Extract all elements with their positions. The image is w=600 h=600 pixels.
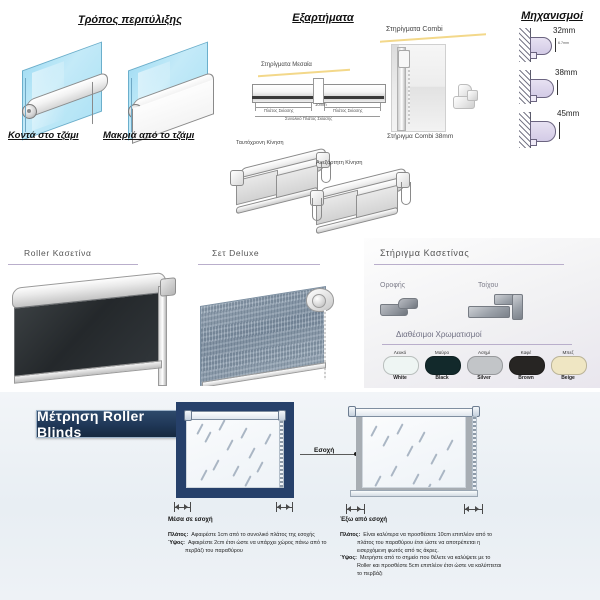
mechanism-size-label: 45mm (557, 109, 579, 118)
roller-bottom-bar (350, 490, 478, 497)
section-mechanisms: Μηχανισμοί 32mm 6.7mm 38mm 45mm (505, 0, 600, 160)
bracket-wall-icon (468, 292, 530, 324)
motion-independent-label: Ανεξάρτητη Κίνηση (316, 160, 362, 166)
side-guide-rail (158, 286, 167, 386)
dim-left-label: Πλάτος Σκίασης (264, 108, 294, 113)
swatch-chip (551, 356, 587, 375)
color-swatch-row: Λευκό White Μαύρο Black Ασημί Silver Καφ… (380, 350, 586, 384)
middle-bracket-label: Στηρίγματα Μεσαία (261, 62, 312, 68)
cassette-endcap (160, 277, 176, 297)
window-glass (362, 416, 466, 488)
note-text: Είναι καλύτερα να προσθέσετε 10cm επιπλέ… (363, 532, 492, 540)
note-key: Πλάτος: (168, 532, 188, 538)
note-key: Ύψος: (340, 555, 357, 561)
swatch-label-en: Black (422, 375, 462, 381)
mechanism-size-label: 32mm (553, 26, 575, 35)
mechanism-foot-icon (530, 95, 537, 102)
mechanism-foot-icon (530, 139, 537, 146)
roller-end-left (230, 170, 244, 186)
swatch-label-en: White (380, 375, 420, 381)
headrail-cap-left (348, 406, 356, 417)
colors-title: Διαθέσιμοι Χρωματισμοί (396, 330, 482, 339)
note-outside-heading: Έξω από εσοχή (340, 516, 590, 523)
swatch-black: Μαύρο Black (422, 350, 462, 355)
note-line: Πλάτος: Είναι καλύτερα να προσθέσετε 10c… (340, 532, 590, 540)
roller-headrail (186, 411, 286, 420)
window-control-chain (279, 420, 284, 488)
glass-edge-line (131, 78, 132, 132)
bracket-tab (467, 90, 478, 101)
deluxe-title: Σετ Deluxe (212, 248, 259, 258)
mechanisms-heading: Μηχανισμοί (507, 10, 597, 22)
window-control-chain (472, 416, 477, 490)
deluxe-control-chain (324, 308, 326, 380)
middle-bracket-diagram: Πλάτος Σκίασης Πλάτος Σκίασης 10mm Συνολ… (252, 78, 384, 120)
note-line: περβάζι του παραθύρου (168, 548, 328, 556)
catalog-page: Τρόπος περιτύλιξης Κοντά στο τζάμι Μακρι… (0, 0, 600, 600)
section-wrapping-method: Τρόπος περιτύλιξης Κοντά στο τζάμι Μακρι… (0, 0, 250, 160)
bracket-type-wall-label: Τοίχου (478, 282, 498, 289)
wrapping-heading: Τρόπος περιτύλιξης (55, 14, 205, 26)
mechanism-item-32mm: 32mm 6.7mm (519, 28, 595, 62)
wrapping-option-far-label: Μακριά από το τζάμι (103, 130, 194, 141)
combi-bracket-photo (391, 44, 446, 132)
mechanism-item-45mm: 45mm (519, 112, 595, 148)
swatch-beige: Μπεζ Beige (548, 350, 588, 355)
section-parts: Εξαρτήματα Στηρίγματα Μεσαία Πλάτος Σκία… (250, 0, 500, 225)
dimension-row-outside (340, 504, 492, 514)
combi-clip-icon (398, 50, 410, 68)
note-outside-recess: Έξω από εσοχή Πλάτος: Είναι καλύτερα να … (340, 516, 590, 579)
swatch-label-en: Beige (548, 375, 588, 381)
swatch-label-en: Brown (506, 375, 546, 381)
dim-tick (380, 103, 381, 111)
dimension-arrow (555, 38, 556, 52)
note-line: Roller και προσθέστε 5cm επιπλέον έτσι ώ… (340, 563, 590, 571)
dim-right-label: Πλάτος Σκίασης (333, 108, 363, 113)
section-deluxe-set: Σετ Deluxe (192, 238, 362, 388)
mechanism-item-38mm: 38mm (519, 70, 595, 104)
note-key: Πλάτος: (340, 532, 360, 538)
glass-edge-line (25, 78, 26, 132)
mechanism-inner-label: 6.7mm (558, 41, 569, 45)
deluxe-photo (196, 266, 358, 386)
parts-heading: Εξαρτήματα (268, 12, 378, 24)
measuring-banner: Μέτρηση Roller Blinds (36, 410, 180, 438)
dim-total-label: Συνολικό Πλάτος Σκίασης (285, 116, 332, 121)
recess-label: Εσοχή (312, 447, 336, 454)
note-text: το περβάζι (357, 571, 382, 579)
swatch-label-en: Silver (464, 375, 504, 381)
dim-tick (311, 103, 312, 111)
combi-caption: Στήριγμα Combi 38mm (387, 133, 453, 140)
dimension-arrow (559, 122, 560, 139)
note-inside-recess: Μέσα σε εσοχή Πλάτος: Αφαιρέστε 1cm από … (168, 516, 328, 555)
bracket-vertical (512, 294, 523, 320)
note-line: πλάτος του παραθύρου έτσι ώστε να αποτρέ… (340, 540, 590, 548)
note-line: Πλάτος: Αφαιρέστε 1cm από το συνολικό πλ… (168, 532, 328, 540)
note-text: Αφαιρέστε 2cm έτσι ώστε να υπάρχει χώρος… (188, 540, 327, 548)
swatch-chip (383, 356, 419, 375)
dim-center-label: 10mm (315, 102, 327, 107)
combi-label: Στηρίγματα Combi (386, 26, 443, 33)
note-inside-heading: Μέσα σε εσοχή (168, 516, 328, 523)
note-text: περβάζι του παραθύρου (185, 548, 243, 556)
section-cassette-bracket: Στήριγμα Κασετίνας Οροφής Τοίχου Διαθέσι… (364, 238, 600, 388)
label-underline (380, 33, 486, 42)
bracket-ceiling-icon (380, 296, 424, 322)
window-outside-recess-diagram (348, 398, 480, 502)
fabric-drop-line (92, 82, 93, 124)
dim-tick (255, 103, 256, 111)
bracket-title: Στήριγμα Κασετίνας (380, 248, 469, 258)
note-text: πλάτος του παραθύρου έτσι ώστε να αποτρέ… (357, 540, 480, 548)
bracket-type-ceiling-label: Οροφής (380, 282, 405, 289)
swatch-label-gr: Καφέ (506, 350, 546, 355)
combi-bracket-part-photo (453, 84, 479, 116)
swatch-label-gr: Μπεζ (548, 350, 588, 355)
bracket-hook (398, 298, 418, 309)
note-key: Ύψος: (168, 540, 185, 546)
title-rule (198, 264, 320, 265)
mechanism-size-label: 38mm (555, 68, 577, 77)
control-chain-left (312, 198, 322, 221)
note-text: Αφαιρέστε 1cm από το συνολικό πλάτος της… (191, 532, 315, 540)
swatch-white: Λευκό White (380, 350, 420, 355)
bracket-plate (468, 306, 510, 318)
mechanism-foot-icon (530, 52, 537, 59)
swatch-label-gr: Λευκό (380, 350, 420, 355)
roller-headrail (350, 408, 478, 417)
dimension-arrow (557, 80, 558, 95)
title-rule (8, 264, 138, 265)
note-line: Ύψος: Αφαιρέστε 2cm έτσι ώστε να υπάρχει… (168, 540, 328, 548)
section-measuring: Μέτρηση Roller Blinds (0, 392, 600, 600)
note-text: Roller και προσθέστε 5cm επιπλέον έτσι ώ… (357, 563, 501, 571)
window-inside-recess-diagram (176, 402, 294, 498)
cassette-photo (8, 268, 186, 386)
dimension-row-inside (170, 502, 302, 512)
swatch-chip (425, 356, 461, 375)
swatch-silver: Ασημί Silver (464, 350, 504, 355)
window-glass (186, 412, 284, 488)
label-underline (258, 69, 350, 77)
swatch-label-gr: Ασημί (464, 350, 504, 355)
double-roller-independent (308, 168, 418, 226)
swatch-chip (467, 356, 503, 375)
headrail-cap-left (184, 410, 192, 421)
swatch-chip (509, 356, 545, 375)
middle-bracket-icon (313, 78, 324, 104)
swatch-label-gr: Μαύρο (422, 350, 462, 355)
title-rule (374, 264, 564, 265)
cassette-title: Roller Κασετίνα (24, 248, 92, 258)
control-chain-right (401, 182, 411, 205)
colors-rule (382, 344, 572, 345)
swatch-brown: Καφέ Brown (506, 350, 546, 355)
deluxe-roller-head (306, 288, 334, 312)
section-roller-cassette: Roller Κασετίνα (0, 238, 190, 388)
wrapping-option-close-label: Κοντά στο τζάμι (8, 130, 79, 141)
motion-simultaneous-label: Ταυτόχρονη Κίνηση (236, 140, 284, 146)
note-line: το περβάζι (340, 571, 590, 579)
